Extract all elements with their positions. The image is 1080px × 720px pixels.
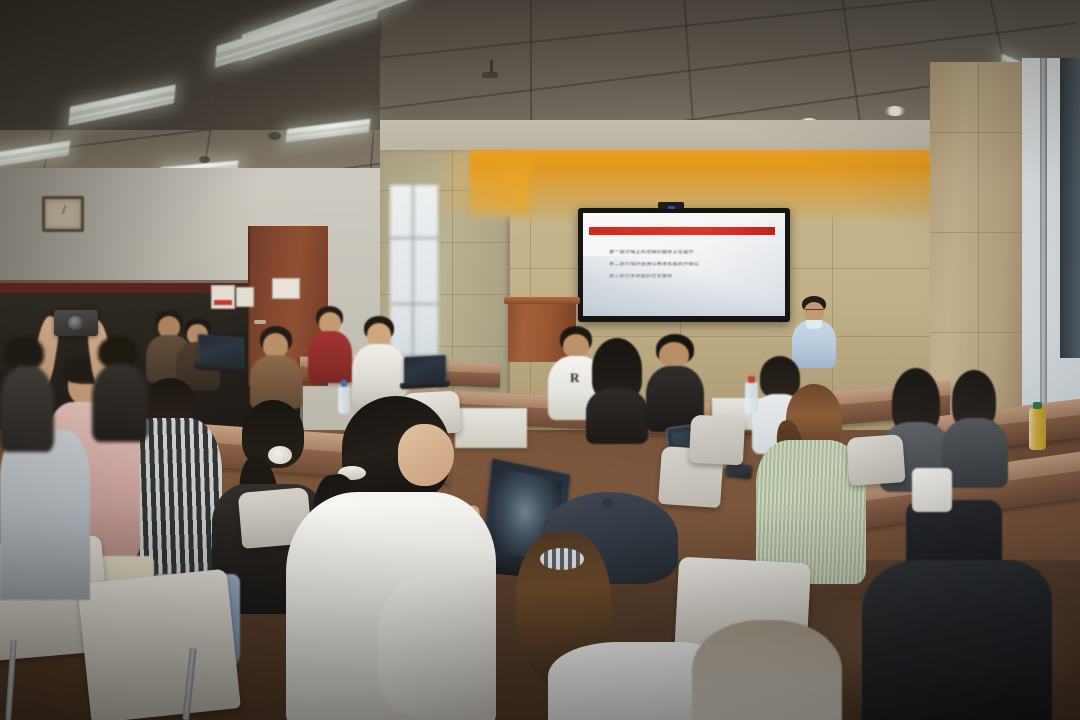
audience-member — [862, 560, 1052, 720]
camera-lens-icon — [68, 316, 83, 330]
wall-clock-icon — [42, 196, 84, 232]
audience-member — [352, 316, 406, 404]
chair[interactable] — [846, 434, 905, 486]
camera-device — [54, 310, 98, 336]
ceiling-speaker — [199, 156, 210, 163]
audience-member — [692, 620, 842, 720]
slide-bullet: 第一部分域主风地域的整体文化提升 — [609, 250, 771, 255]
slide-accent-bar — [589, 227, 775, 235]
audience-member — [942, 370, 1008, 486]
presentation-display[interactable]: 第一部分域主风地域的整体文化提升 第二部分域外连接以精准化提质升级过 第三部分未… — [578, 208, 790, 322]
audience-member — [92, 336, 148, 436]
screen-glare — [583, 256, 785, 316]
shirt-print-letter: R — [570, 370, 579, 386]
audience-member — [250, 326, 302, 406]
presenter-collar — [806, 320, 822, 329]
smartphone-device[interactable] — [725, 463, 752, 480]
audience-member — [0, 430, 90, 590]
door-notice — [272, 278, 300, 299]
cap-button-icon — [602, 498, 614, 508]
white-jacket-attendee — [286, 396, 496, 720]
presenter-glasses-icon — [805, 309, 823, 313]
display-screen: 第一部分域主风地域的整体文化提升 第二部分域外连接以精准化提质升级过 第三部分未… — [583, 213, 785, 316]
ceiling-fitting — [482, 72, 498, 78]
window-frame — [1060, 58, 1080, 358]
beverage-bottle — [1029, 408, 1046, 450]
chair[interactable] — [689, 415, 745, 466]
conference-room-photo: 第一部分域主风地域的整体文化提升 第二部分域外连接以精准化提质升级过 第三部分未… — [0, 0, 1080, 720]
audience-member — [586, 338, 648, 438]
wall-safety-sign — [211, 285, 235, 309]
audience-member — [0, 336, 54, 446]
chair[interactable] — [77, 569, 241, 720]
cap-attendee — [492, 492, 724, 720]
jacket-fold — [378, 576, 496, 716]
camera-led-icon — [668, 206, 675, 209]
attendee-head — [398, 424, 454, 486]
beaded-hair-tie — [540, 548, 584, 570]
audience-member — [308, 306, 352, 380]
water-bottle — [745, 382, 758, 414]
downlight — [884, 106, 906, 116]
cove-light-spill — [430, 152, 530, 212]
ceiling-speaker — [268, 132, 281, 140]
lectern-top — [504, 297, 580, 304]
door-handle[interactable] — [254, 320, 266, 324]
tissue-pack — [912, 468, 952, 512]
wall-safety-sign — [236, 287, 254, 307]
